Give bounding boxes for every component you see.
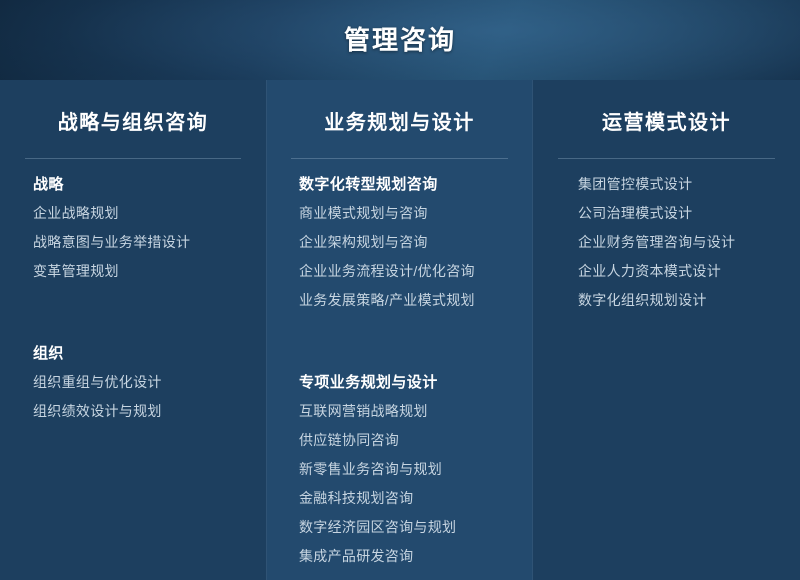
service-item[interactable]: 业务发展策略/产业模式规划 — [286, 286, 513, 315]
service-item[interactable]: 组织重组与优化设计 — [20, 368, 246, 397]
column-header: 运营模式设计 — [553, 80, 780, 133]
service-group-title: 战略 — [20, 170, 246, 199]
service-column-business-planning: 业务规划与设计 数字化转型规划咨询 商业模式规划与咨询 企业架构规划与咨询 企业… — [266, 80, 533, 580]
column-header: 业务规划与设计 — [286, 80, 513, 133]
service-item[interactable]: 公司治理模式设计 — [565, 199, 780, 228]
service-group: 组织 组织重组与优化设计 组织绩效设计与规划 — [20, 339, 246, 426]
column-body: 战略 企业战略规划 战略意图与业务举措设计 变革管理规划 组织 组织重组与优化设… — [20, 159, 246, 426]
service-item[interactable]: 新零售业务咨询与规划 — [286, 455, 513, 484]
service-item-list: 互联网营销战略规划 供应链协同咨询 新零售业务咨询与规划 金融科技规划咨询 数字… — [286, 397, 513, 571]
service-item[interactable]: 企业业务流程设计/优化咨询 — [286, 257, 513, 286]
column-header: 战略与组织咨询 — [20, 80, 246, 133]
service-item[interactable]: 集成产品研发咨询 — [286, 542, 513, 571]
service-item[interactable]: 互联网营销战略规划 — [286, 397, 513, 426]
service-item[interactable]: 战略意图与业务举措设计 — [20, 228, 246, 257]
service-item-list: 商业模式规划与咨询 企业架构规划与咨询 企业业务流程设计/优化咨询 业务发展策略… — [286, 199, 513, 315]
management-consulting-panel: 管理咨询 战略与组织咨询 战略 企业战略规划 战略意图与业务举措设计 变革管理规… — [0, 0, 800, 580]
page-title: 管理咨询 — [344, 27, 456, 53]
panel-header: 管理咨询 — [0, 0, 800, 80]
service-item[interactable]: 企业架构规划与咨询 — [286, 228, 513, 257]
service-group: 数字化转型规划咨询 商业模式规划与咨询 企业架构规划与咨询 企业业务流程设计/优… — [286, 170, 513, 315]
service-group: 战略 企业战略规划 战略意图与业务举措设计 变革管理规划 — [20, 170, 246, 286]
service-group: 集团管控模式设计 公司治理模式设计 企业财务管理咨询与设计 企业人力资本模式设计… — [553, 170, 780, 315]
service-item[interactable]: 集团管控模式设计 — [565, 170, 780, 199]
service-item[interactable]: 企业人力资本模式设计 — [565, 257, 780, 286]
service-item[interactable]: 商业模式规划与咨询 — [286, 199, 513, 228]
service-columns: 战略与组织咨询 战略 企业战略规划 战略意图与业务举措设计 变革管理规划 组织 … — [0, 80, 800, 580]
service-item[interactable]: 金融科技规划咨询 — [286, 484, 513, 513]
service-item-list: 集团管控模式设计 公司治理模式设计 企业财务管理咨询与设计 企业人力资本模式设计… — [553, 170, 780, 315]
column-body: 数字化转型规划咨询 商业模式规划与咨询 企业架构规划与咨询 企业业务流程设计/优… — [286, 159, 513, 571]
service-item[interactable]: 数字经济园区咨询与规划 — [286, 513, 513, 542]
service-item-list: 企业战略规划 战略意图与业务举措设计 变革管理规划 — [20, 199, 246, 286]
column-body: 集团管控模式设计 公司治理模式设计 企业财务管理咨询与设计 企业人力资本模式设计… — [553, 159, 780, 315]
service-group-title: 组织 — [20, 339, 246, 368]
service-item[interactable]: 企业战略规划 — [20, 199, 246, 228]
service-item[interactable]: 数字化组织规划设计 — [565, 286, 780, 315]
service-item-list: 组织重组与优化设计 组织绩效设计与规划 — [20, 368, 246, 426]
service-column-operating-model: 运营模式设计 集团管控模式设计 公司治理模式设计 企业财务管理咨询与设计 企业人… — [533, 80, 800, 580]
service-group: 专项业务规划与设计 互联网营销战略规划 供应链协同咨询 新零售业务咨询与规划 金… — [286, 368, 513, 571]
service-column-strategy-organization: 战略与组织咨询 战略 企业战略规划 战略意图与业务举措设计 变革管理规划 组织 … — [0, 80, 266, 580]
service-group-title: 数字化转型规划咨询 — [286, 170, 513, 199]
service-item[interactable]: 变革管理规划 — [20, 257, 246, 286]
service-item[interactable]: 组织绩效设计与规划 — [20, 397, 246, 426]
service-group-title: 专项业务规划与设计 — [286, 368, 513, 397]
service-item[interactable]: 供应链协同咨询 — [286, 426, 513, 455]
service-item[interactable]: 企业财务管理咨询与设计 — [565, 228, 780, 257]
